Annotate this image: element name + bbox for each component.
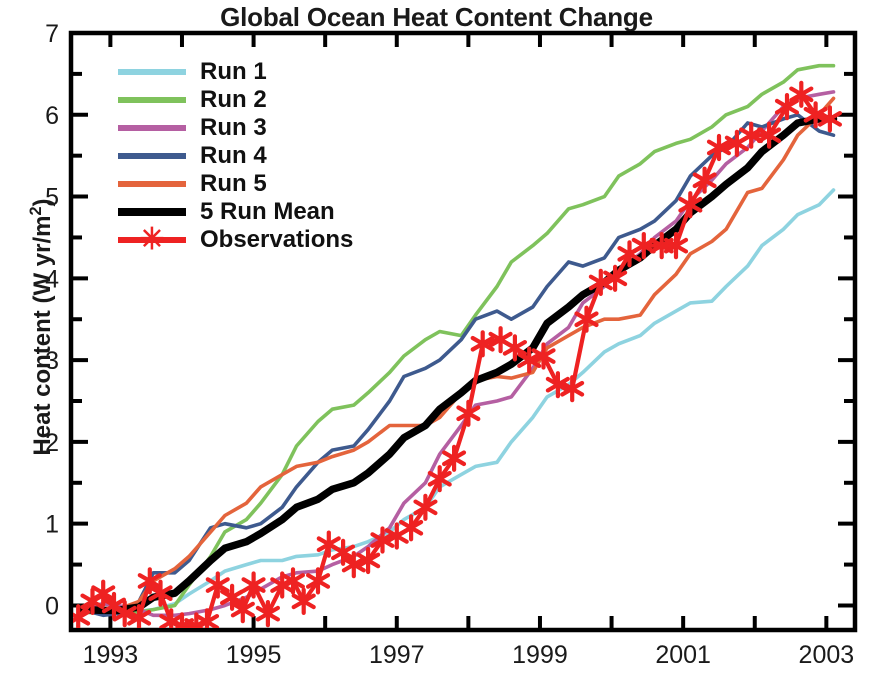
legend-item-run-4[interactable]: Run 4 bbox=[118, 142, 353, 170]
legend-item-run-1[interactable]: Run 1 bbox=[118, 58, 353, 86]
x-tick-label: 1997 bbox=[369, 641, 425, 669]
legend-swatch-mean bbox=[118, 208, 186, 216]
legend-swatch-observations: ✳ bbox=[118, 237, 186, 243]
y-axis-label-text: Heat content (W yr/m bbox=[29, 216, 56, 456]
observation-marker bbox=[244, 574, 264, 597]
legend-label: Run 2 bbox=[200, 86, 267, 114]
y-axis-label-exponent: 2 bbox=[27, 206, 45, 215]
y-axis-label-tail: ) bbox=[29, 198, 56, 206]
legend-swatch-run1 bbox=[118, 69, 186, 75]
legend-label: Observations bbox=[200, 226, 353, 254]
legend-item-run-2[interactable]: Run 2 bbox=[118, 86, 353, 114]
legend-item-run-5[interactable]: Run 5 bbox=[118, 170, 353, 198]
legend-label: Run 4 bbox=[200, 142, 267, 170]
x-tick-label: 1995 bbox=[226, 641, 282, 669]
y-tick-label: 7 bbox=[45, 20, 59, 48]
figure: Global Ocean Heat Content Change 0123456… bbox=[0, 0, 873, 680]
x-tick-label: 2001 bbox=[655, 641, 711, 669]
legend-swatch-run4 bbox=[118, 153, 186, 159]
y-axis-label: Heat content (W yr/m2) bbox=[27, 117, 57, 537]
y-tick-label: 0 bbox=[45, 592, 59, 620]
legend-label: Run 1 bbox=[200, 58, 267, 86]
legend-swatch-run5 bbox=[118, 181, 186, 187]
legend-label: 5 Run Mean bbox=[200, 198, 335, 226]
x-tick-label: 2003 bbox=[799, 641, 855, 669]
legend-swatch-run2 bbox=[118, 97, 186, 103]
legend-label: Run 5 bbox=[200, 170, 267, 198]
legend-item-run-3[interactable]: Run 3 bbox=[118, 114, 353, 142]
legend-swatch-run3 bbox=[118, 125, 186, 131]
legend-item-observations[interactable]: ✳Observations bbox=[118, 226, 353, 254]
observation-marker bbox=[258, 602, 278, 625]
chart-legend: Run 1Run 2Run 3Run 4Run 55 Run Mean✳Obse… bbox=[118, 58, 353, 254]
x-tick-label: 1999 bbox=[512, 641, 568, 669]
legend-item-5-run-mean[interactable]: 5 Run Mean bbox=[118, 198, 353, 226]
legend-label: Run 3 bbox=[200, 114, 267, 142]
x-tick-label: 1993 bbox=[83, 641, 139, 669]
